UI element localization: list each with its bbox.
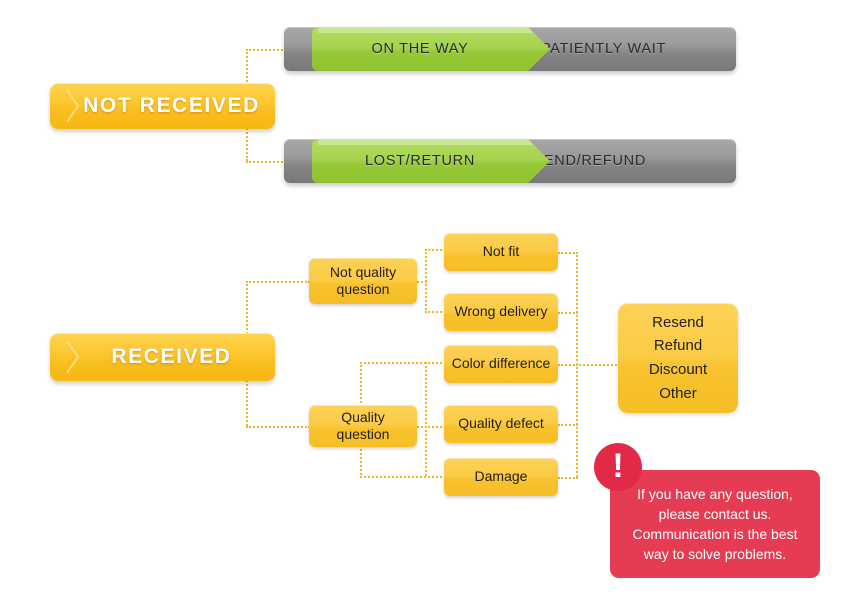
progress-bar-lost-return: RESEND/REFUND LOST/RET <box>312 139 736 183</box>
outcome-item-other: Other <box>659 382 697 406</box>
connector-not-quality-to-wrong-delivery <box>425 311 446 313</box>
connector-not-quality-to-not-fit <box>425 249 446 251</box>
progress-bar-stage-on-the-way[interactable]: ON THE WAY <box>312 27 550 71</box>
contact-note-card: If you have any question, please contact… <box>610 470 820 578</box>
exclamation-glyph: ! <box>612 449 623 483</box>
connector-quality-to-color-difference <box>360 362 446 364</box>
chevron-right-icon <box>66 89 80 123</box>
outcome-box-resolutions[interactable]: Resend Refund Discount Other <box>618 303 738 413</box>
contact-note-text: If you have any question, please contact… <box>633 484 798 565</box>
outcome-item-discount: Discount <box>649 358 707 382</box>
node-label: Quality defect <box>458 415 544 432</box>
progress-bar-stage-label: ON THE WAY <box>312 41 550 57</box>
node-not-quality-question[interactable]: Not quality question <box>309 258 417 304</box>
status-badge-not-received[interactable]: NOT RECEIVED <box>50 83 275 129</box>
chevron-right-icon <box>66 340 80 374</box>
connector-quality-defect-out <box>558 424 578 426</box>
node-label: Not quality question <box>330 264 396 299</box>
connector-received-to-quality <box>246 426 310 428</box>
connector-quality-to-quality-defect <box>425 426 446 428</box>
node-label-line2: question <box>337 281 390 297</box>
node-damage[interactable]: Damage <box>444 458 558 496</box>
alert-exclamation-icon: ! <box>594 443 642 491</box>
node-label: Damage <box>475 468 528 485</box>
node-quality-question[interactable]: Quality question <box>309 405 417 447</box>
connector-received-to-not-quality <box>246 281 310 283</box>
contact-note-line4: way to solve problems. <box>644 546 786 562</box>
contact-note-line2: please contact us. <box>659 506 772 522</box>
progress-bar-stage-label: LOST/RETURN <box>312 153 550 169</box>
node-quality-defect[interactable]: Quality defect <box>444 405 558 443</box>
node-label: Quality question <box>315 409 411 443</box>
contact-note-line1: If you have any question, <box>637 486 793 502</box>
node-color-difference[interactable]: Color difference <box>444 345 558 383</box>
node-not-fit[interactable]: Not fit <box>444 233 558 271</box>
connector-wrong-delivery-out <box>558 312 578 314</box>
node-wrong-delivery[interactable]: Wrong delivery <box>444 293 558 331</box>
node-label: Not fit <box>483 243 520 260</box>
connector-color-difference-out <box>558 364 578 366</box>
progress-bar-stage-lost-return[interactable]: LOST/RETURN <box>312 139 550 183</box>
connector-quality-to-damage <box>360 476 446 478</box>
status-badge-received[interactable]: RECEIVED <box>50 333 275 381</box>
contact-note-line3: Communication is the best <box>633 526 798 542</box>
outcome-item-resend: Resend <box>652 311 704 335</box>
connector-collector-to-outcomes <box>576 364 620 366</box>
node-label: Color difference <box>452 355 551 372</box>
connector-quality-fanout <box>425 362 427 476</box>
connector-not-quality-stub <box>417 281 427 283</box>
status-badge-not-received-label: NOT RECEIVED <box>50 94 275 118</box>
status-badge-received-label: RECEIVED <box>50 345 275 369</box>
outcome-item-refund: Refund <box>654 334 702 358</box>
node-label-line1: Not quality <box>330 264 396 280</box>
connector-not-fit-out <box>558 252 578 254</box>
connector-damage-out <box>558 477 578 479</box>
node-label: Wrong delivery <box>454 303 547 320</box>
progress-bar-on-the-way: PLEASE PATIENTLY WAIT <box>312 27 736 71</box>
flowchart-canvas: NOT RECEIVED PLEASE PATIENTLY WAIT <box>0 0 850 598</box>
